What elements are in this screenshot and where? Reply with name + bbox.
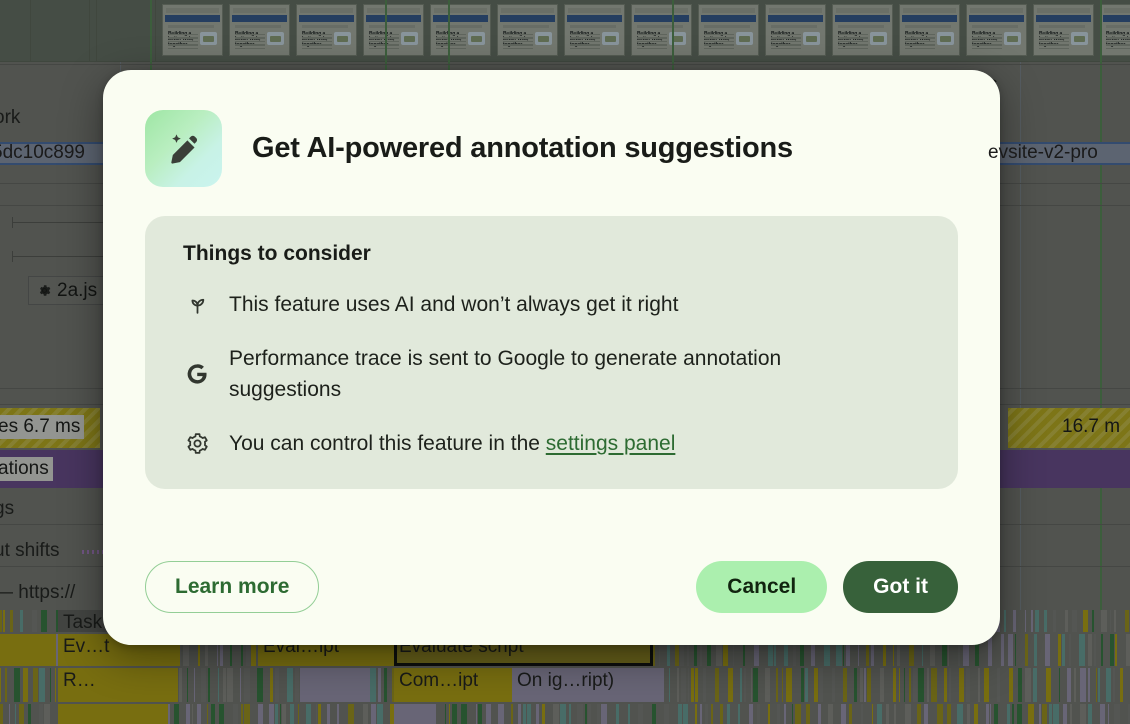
magic-wand-pencil-glyph <box>162 127 206 171</box>
network-request-right-label: evsite-v2-pro <box>988 142 1098 164</box>
got-it-button[interactable]: Got it <box>843 561 958 613</box>
settings-panel-link[interactable]: settings panel <box>546 432 676 455</box>
consider-item-ai-disclaimer: This feature uses AI and won’t always ge… <box>183 289 924 320</box>
consider-item-settings-control: You can control this feature in the sett… <box>183 428 924 459</box>
google-g-glyph <box>184 361 210 387</box>
things-to-consider-panel: Things to consider This feature uses AI … <box>145 216 958 489</box>
consider-item-text: This feature uses AI and won’t always ge… <box>229 289 678 320</box>
screen: Building a better web, togetherBuilding … <box>0 0 1130 724</box>
consider-item-data-sent-to-google: Performance trace is sent to Google to g… <box>183 343 924 405</box>
sprout-icon <box>183 289 211 316</box>
gear-icon <box>183 431 211 456</box>
magic-wand-pencil-icon <box>145 110 222 187</box>
learn-more-button[interactable]: Learn more <box>145 561 319 613</box>
consider-item-text: Performance trace is sent to Google to g… <box>229 343 869 405</box>
dialog-title: Get AI-powered annotation suggestions <box>252 132 793 165</box>
consider-item-text-before: You can control this feature in the <box>229 432 546 455</box>
cancel-button[interactable]: Cancel <box>696 561 827 613</box>
consider-item-text: You can control this feature in the sett… <box>229 428 675 459</box>
network-request-label: 5dc10c899 <box>0 142 85 164</box>
panel-heading: Things to consider <box>183 242 924 266</box>
dialog-footer: Learn more Cancel Got it <box>145 561 958 613</box>
dialog-header: Get AI-powered annotation suggestions <box>145 110 958 187</box>
ai-annotation-suggestions-dialog: Get AI-powered annotation suggestions Th… <box>103 70 1000 645</box>
google-g-icon <box>183 361 211 387</box>
primary-actions: Cancel Got it <box>696 561 958 613</box>
